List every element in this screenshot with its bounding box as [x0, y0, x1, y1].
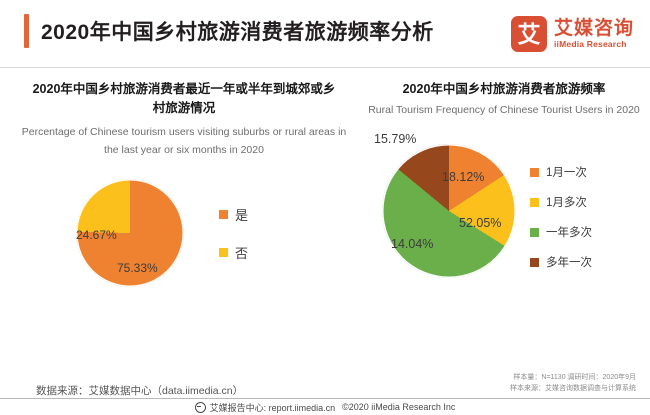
sample-source-text: 样本来源：艾媒咨询数据调查与计算系统	[510, 383, 636, 394]
right-pie-area: 14.04% 15.79% 18.12% 52.05% 1月一次1月多次一年多次…	[358, 132, 650, 302]
right-pie-legend: 1月一次1月多次一年多次多年一次	[530, 164, 592, 270]
globe-icon	[195, 402, 206, 413]
data-source-text: 数据来源：艾媒数据中心（data.iimedia.cn）	[36, 383, 243, 398]
right-pie-label-slice3: 52.05%	[459, 216, 501, 230]
legend-item[interactable]: 1月一次	[530, 164, 592, 180]
legend-swatch-icon	[530, 168, 539, 177]
right-pie-label-slice4: 14.04%	[391, 237, 433, 251]
sample-size-text: 样本量：N=1130 调研时间：2020年9月	[510, 372, 636, 383]
legend-item-label: 1月多次	[546, 194, 587, 210]
logo-name-en: iiMedia Research	[554, 39, 634, 49]
copyright-text: ©2020 iiMedia Research Inc	[342, 402, 455, 412]
report-center-link[interactable]: 艾媒报告中心: report.iimedia.cn	[210, 401, 336, 414]
right-pie-chart[interactable]	[382, 144, 516, 278]
right-chart-subtitle: Rural Tourism Frequency of Chinese Touri…	[358, 102, 650, 120]
left-chart-title: 2020年中国乡村旅游消费者最近一年或半年到城郊或乡村旅游情况	[14, 80, 354, 119]
legend-item-label: 是	[235, 205, 248, 224]
right-pie-label-slice1: 15.79%	[374, 132, 416, 146]
legend-swatch-icon	[219, 210, 228, 219]
sample-info: 样本量：N=1130 调研时间：2020年9月 样本来源：艾媒咨询数据调查与计算…	[510, 372, 636, 394]
legend-swatch-icon	[530, 228, 539, 237]
legend-item[interactable]: 否	[219, 243, 248, 262]
legend-swatch-icon	[219, 248, 228, 257]
right-chart-title: 2020年中国乡村旅游消费者旅游频率	[358, 80, 650, 99]
report-slide: 2020年中国乡村旅游消费者旅游频率分析 艾 艾媒咨询 iiMedia Rese…	[0, 0, 650, 415]
brand-logo: 艾 艾媒咨询 iiMedia Research	[511, 16, 634, 52]
legend-item-label: 多年一次	[546, 254, 592, 270]
legend-swatch-icon	[530, 198, 539, 207]
left-pie-area: 75.33% 24.67% 是否	[14, 173, 354, 323]
left-pie-label-slice1: 75.33%	[117, 261, 158, 275]
left-pie-label-slice2: 24.67%	[76, 228, 117, 242]
header: 2020年中国乡村旅游消费者旅游频率分析 艾 艾媒咨询 iiMedia Rese…	[0, 0, 650, 68]
right-chart-panel: 2020年中国乡村旅游消费者旅游频率 Rural Tourism Frequen…	[358, 80, 650, 302]
logo-name-cn: 艾媒咨询	[554, 19, 634, 39]
legend-item-label: 一年多次	[546, 224, 592, 240]
footer-bar: 艾媒报告中心: report.iimedia.cn ©2020 iiMedia …	[0, 399, 650, 415]
legend-item[interactable]: 是	[219, 205, 248, 224]
legend-item[interactable]: 1月多次	[530, 194, 592, 210]
left-chart-panel: 2020年中国乡村旅游消费者最近一年或半年到城郊或乡村旅游情况 Percenta…	[14, 80, 354, 323]
accent-bar	[24, 14, 29, 48]
legend-item-label: 否	[235, 243, 248, 262]
legend-item[interactable]: 一年多次	[530, 224, 592, 240]
right-pie-label-slice2: 18.12%	[442, 170, 484, 184]
logo-text: 艾媒咨询 iiMedia Research	[554, 19, 634, 49]
left-pie-legend: 是否	[219, 205, 248, 262]
page-title: 2020年中国乡村旅游消费者旅游频率分析	[41, 16, 434, 46]
legend-item[interactable]: 多年一次	[530, 254, 592, 270]
legend-item-label: 1月一次	[546, 164, 587, 180]
legend-swatch-icon	[530, 258, 539, 267]
left-chart-subtitle: Percentage of Chinese tourism users visi…	[14, 124, 354, 160]
title-wrap: 2020年中国乡村旅游消费者旅游频率分析	[24, 14, 434, 48]
logo-mark-icon: 艾	[511, 16, 547, 52]
